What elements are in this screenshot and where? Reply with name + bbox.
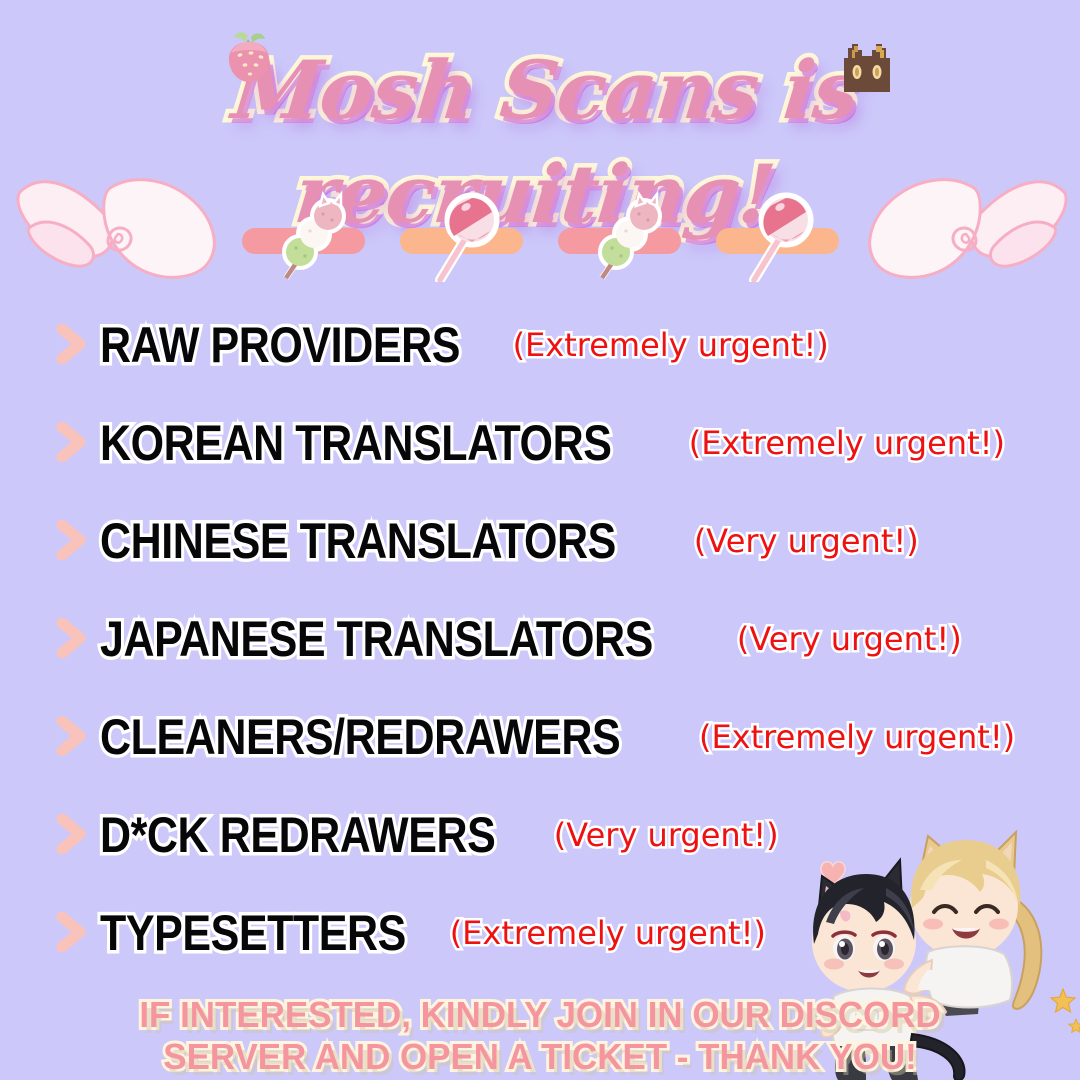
lollipop-icon <box>742 190 814 282</box>
role-row: RAW PROVIDERS (Extremely urgent!) <box>0 296 1080 394</box>
role-row: CLEANERS/REDRAWERS (Extremely urgent!) <box>0 688 1080 786</box>
lollipop-icon <box>428 190 500 282</box>
bear-head-icon <box>838 38 896 94</box>
role-name: CHINESE TRANSLATORS <box>100 515 616 567</box>
chevron-right-icon <box>56 422 86 462</box>
role-urgency: (Extremely urgent!) <box>699 711 1015 763</box>
footer-call-to-action: IF INTERESTED, KINDLY JOIN IN OUR DISCOR… <box>0 994 1080 1078</box>
chevron-right-icon <box>56 716 86 756</box>
role-name: D*CK REDRAWERS <box>100 809 495 861</box>
role-name: CLEANERS/REDRAWERS <box>100 711 620 763</box>
role-urgency: (Very urgent!) <box>737 613 962 665</box>
role-urgency: (Very urgent!) <box>694 515 919 567</box>
chevron-right-icon <box>56 324 86 364</box>
dango-skewer-icon <box>276 190 354 282</box>
role-row: CHINESE TRANSLATORS (Very urgent!) <box>0 492 1080 590</box>
decorative-divider <box>0 160 1080 290</box>
role-row: JAPANESE TRANSLATORS (Very urgent!) <box>0 590 1080 688</box>
role-name: JAPANESE TRANSLATORS <box>100 613 653 665</box>
chevron-right-icon <box>56 618 86 658</box>
role-urgency: (Very urgent!) <box>554 809 779 861</box>
role-urgency: (Extremely urgent!) <box>450 907 766 959</box>
footer-line-2: SERVER AND OPEN A TICKET - THANK YOU! <box>16 1036 1064 1078</box>
role-name: TYPESETTERS <box>100 907 406 959</box>
footer-line-1: IF INTERESTED, KINDLY JOIN IN OUR DISCOR… <box>16 994 1064 1036</box>
chevron-right-icon <box>56 912 86 952</box>
angel-wing-cloud-left-icon <box>14 164 232 284</box>
role-row: KOREAN TRANSLATORS (Extremely urgent!) <box>0 394 1080 492</box>
role-urgency: (Extremely urgent!) <box>689 417 1005 469</box>
role-name: KOREAN TRANSLATORS <box>100 417 611 469</box>
dango-skewer-icon <box>592 190 670 282</box>
chevron-right-icon <box>56 814 86 854</box>
chevron-right-icon <box>56 520 86 560</box>
angel-wing-cloud-right-icon <box>852 164 1070 284</box>
recruitment-poster: Mosh Scans is recruiting! <box>0 0 1080 1080</box>
poster-title: Mosh Scans is recruiting! <box>0 38 1080 148</box>
role-urgency: (Extremely urgent!) <box>513 319 829 371</box>
role-name: RAW PROVIDERS <box>100 319 460 371</box>
